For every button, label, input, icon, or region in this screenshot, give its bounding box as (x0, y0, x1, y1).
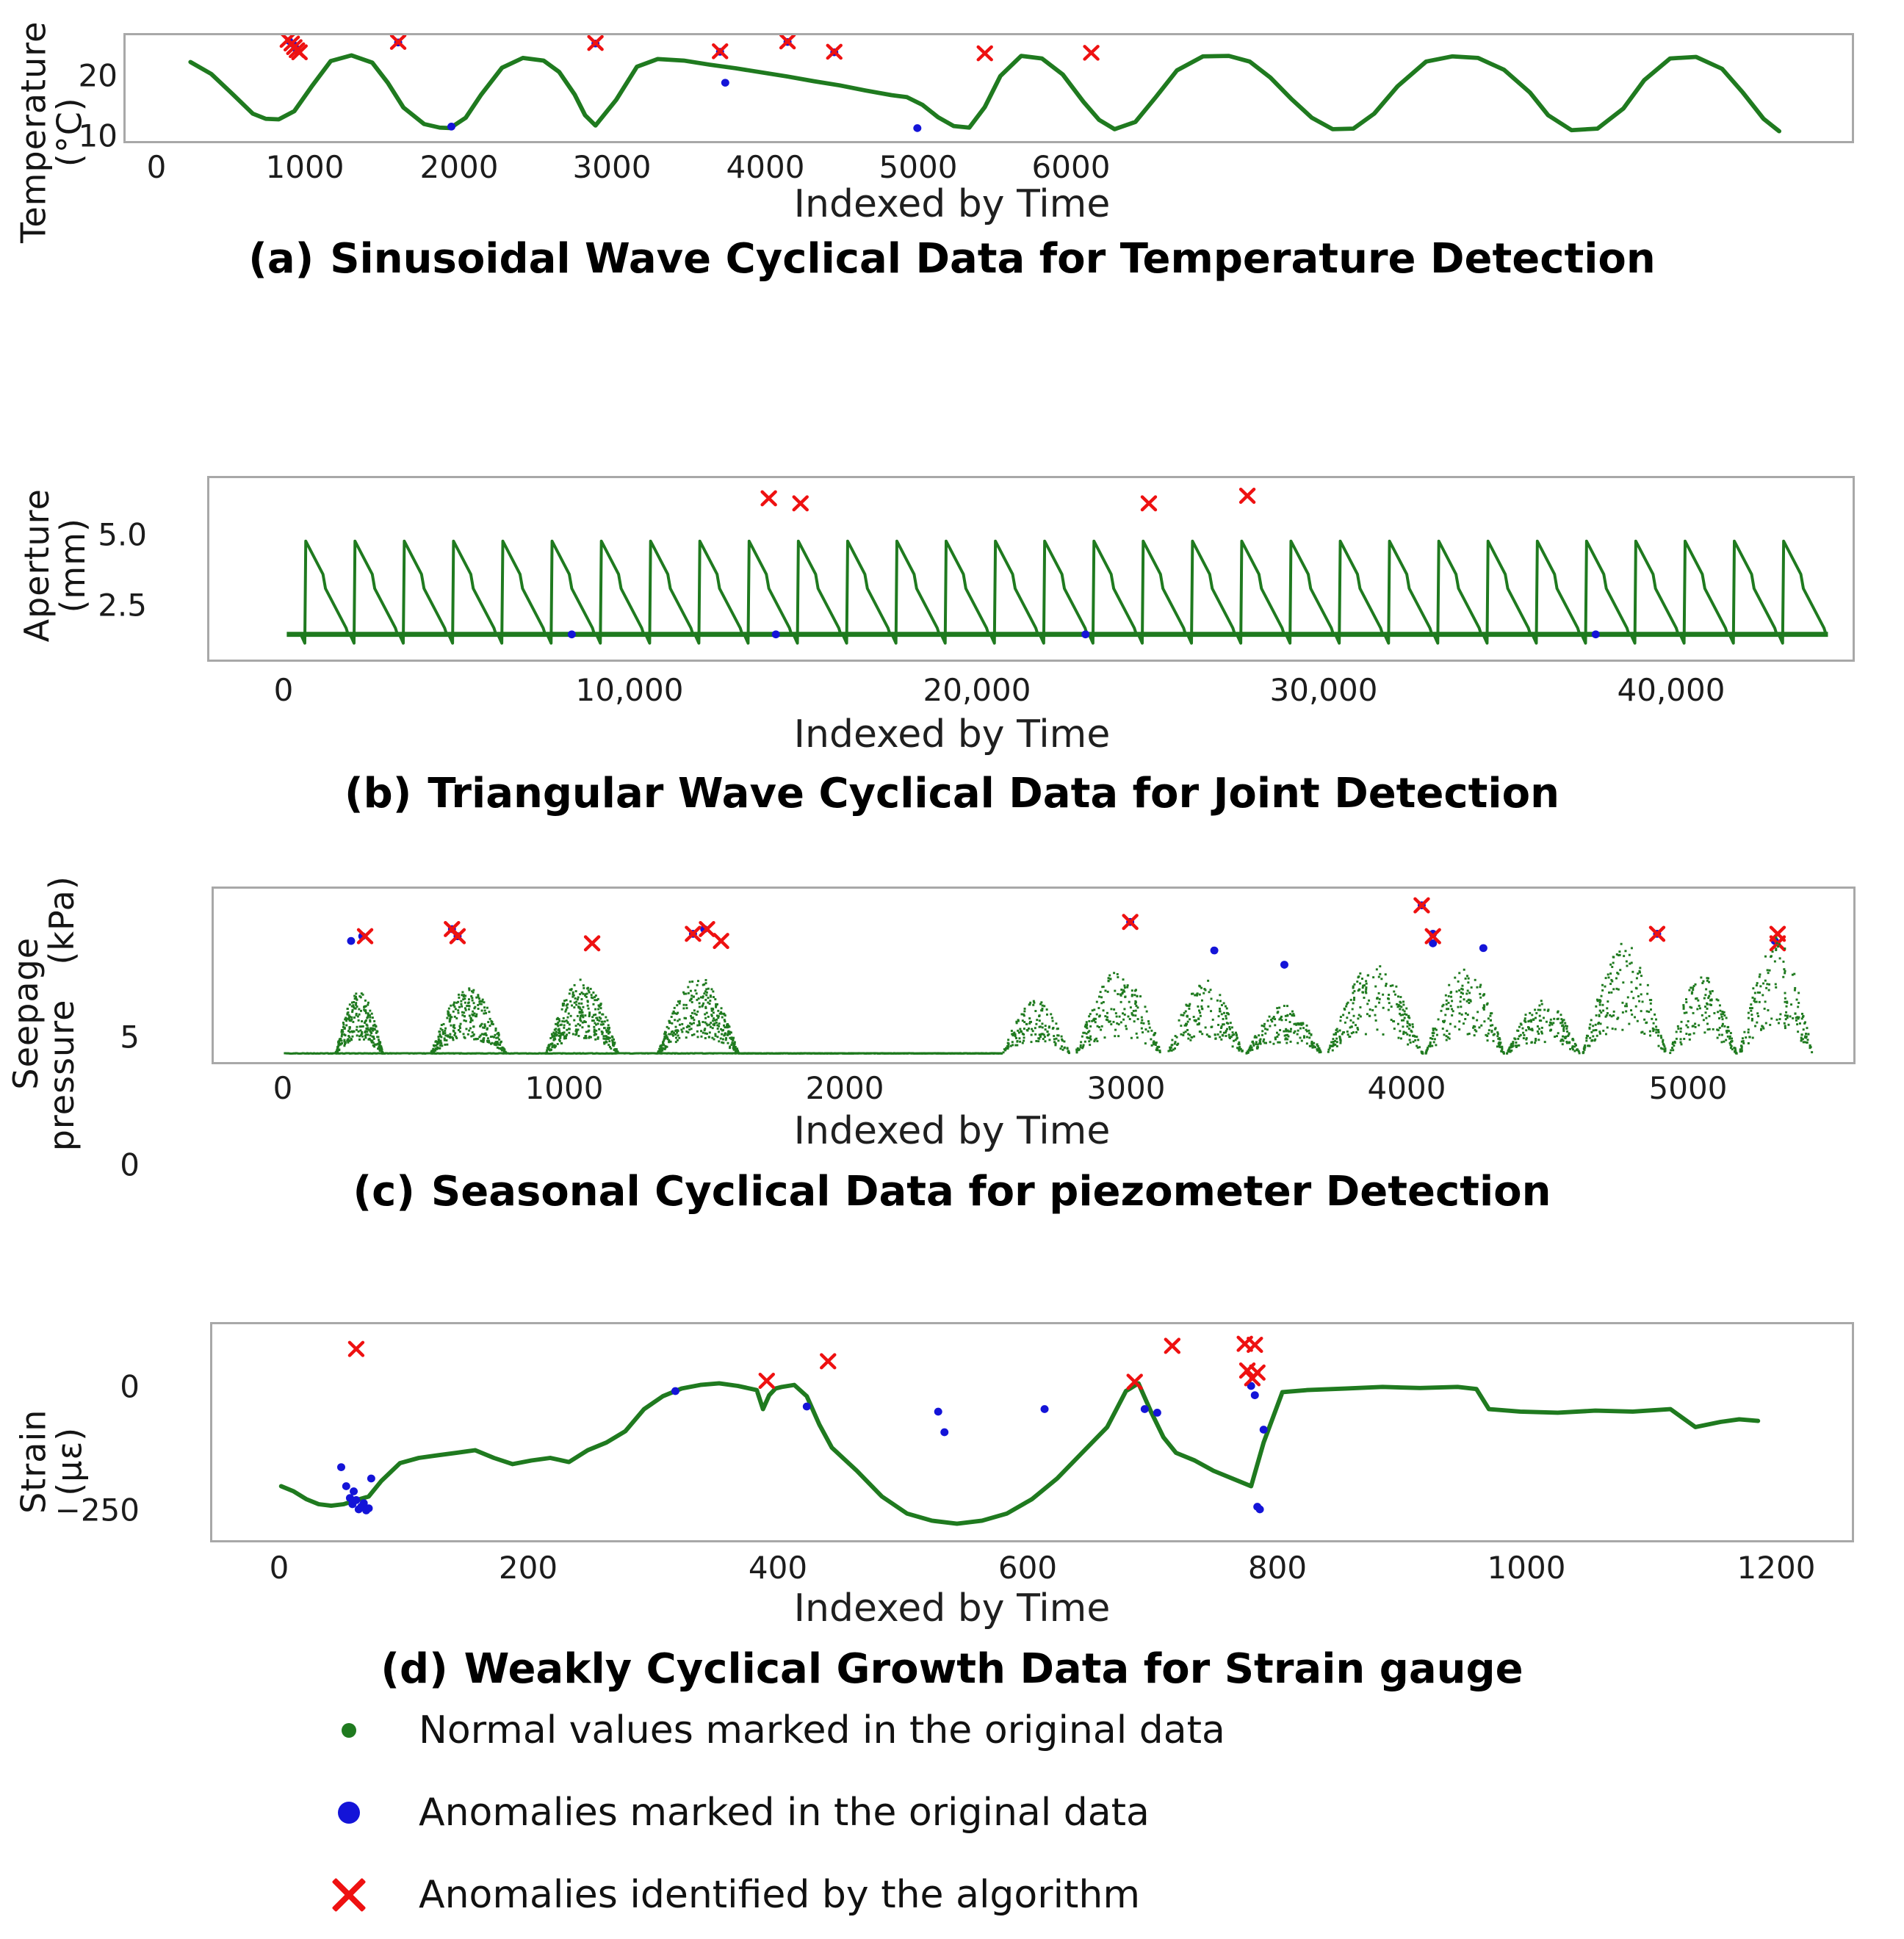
panel-a-xtick-5: 5000 (879, 149, 958, 185)
panel-b-tag: (b) (345, 770, 411, 817)
panel-c-caption-text: Seasonal Cyclical Data for piezometer De… (431, 1168, 1551, 1216)
panel-c-caption: (c)Seasonal Cyclical Data for piezometer… (0, 1168, 1904, 1216)
panel-d-ytick-1: −250 (44, 1492, 140, 1528)
panel-c-xtick-0: 0 (273, 1070, 293, 1106)
figure-root: Temperature (°C) 20 10 0 1000 2000 3000 … (0, 0, 1904, 1939)
panel-b-xtick-2: 20,000 (923, 672, 1031, 708)
panel-a-plot-area (123, 33, 1854, 143)
panel-b-xtick-3: 30,000 (1270, 672, 1378, 708)
panel-b-xtick-4: 40,000 (1618, 672, 1725, 708)
panel-a-xtick-0: 0 (147, 149, 167, 185)
green-dot-icon (323, 1705, 375, 1756)
panel-c-series-svg (214, 889, 1853, 1062)
panel-c-xtick-3: 3000 (1087, 1070, 1166, 1106)
panel-d-caption-text: Weakly Cyclical Growth Data for Strain g… (464, 1645, 1523, 1693)
panel-b-ylabel-line1: Aperture (17, 488, 57, 642)
legend-label-normal: Normal values marked in the original dat… (419, 1708, 1225, 1752)
panel-b-caption: (b)Triangular Wave Cyclical Data for Joi… (0, 770, 1904, 817)
panel-d-xtick-2: 400 (749, 1550, 807, 1586)
panel-c-xticklabels: 0 1000 2000 3000 4000 5000 (0, 1066, 1904, 1103)
panel-a-tag: (a) (248, 235, 314, 283)
panel-b-xtick-1: 10,000 (576, 672, 684, 708)
panel-b-ylabel: Aperture (mm) (0, 455, 140, 676)
panel-a-xtick-6: 6000 (1032, 149, 1111, 185)
panel-b-xticklabels: 0 10,000 20,000 30,000 40,000 (0, 668, 1904, 705)
panel-d-caption: (d)Weakly Cyclical Growth Data for Strai… (0, 1645, 1904, 1693)
panel-c-xtick-2: 2000 (806, 1070, 884, 1106)
panel-d-xtick-5: 1000 (1487, 1550, 1566, 1586)
panel-a-xtick-4: 4000 (726, 149, 805, 185)
panel-d-ylabel-line2: (με) (49, 1427, 89, 1496)
panel-d-series-svg (212, 1324, 1852, 1540)
panel-d-xticklabels: 0 200 400 600 800 1000 1200 (0, 1546, 1904, 1583)
panel-a-ytick-0: 20 (66, 58, 118, 94)
panel-b-xtick-0: 0 (274, 672, 294, 708)
panel-b-plot-area (207, 476, 1855, 662)
panel-a-xticklabels: 0 1000 2000 3000 4000 5000 6000 (0, 145, 1904, 182)
panel-d-xtick-6: 1200 (1737, 1550, 1816, 1586)
panel-d-xtick-1: 200 (499, 1550, 558, 1586)
panel-d-xlabel: Indexed by Time (0, 1586, 1904, 1631)
panel-d-ytick-0: 0 (95, 1369, 140, 1405)
panel-b-ytick-0: 5.0 (81, 517, 147, 553)
panel-c-xlabel: Indexed by Time (0, 1109, 1904, 1153)
legend-label-anomaly-pred: Anomalies identified by the algorithm (419, 1873, 1140, 1917)
panel-c-xtick-1: 1000 (525, 1070, 604, 1106)
panel-c-xtick-5: 5000 (1649, 1070, 1728, 1106)
panel-c-ytick-0: 5 (95, 1019, 140, 1055)
legend-item-normal: Normal values marked in the original dat… (0, 1689, 1904, 1772)
panel-a-caption-text: Sinusoidal Wave Cyclical Data for Temper… (330, 235, 1656, 283)
panel-c-tag: (c) (353, 1168, 414, 1216)
panel-d-plot-area (210, 1322, 1854, 1542)
panel-b-xlabel: Indexed by Time (0, 712, 1904, 757)
panel-a-xlabel: Indexed by Time (0, 182, 1904, 226)
legend-item-anomaly-pred: Anomalies identified by the algorithm (0, 1854, 1904, 1936)
panel-a-xtick-1: 1000 (266, 149, 345, 185)
legend: Normal values marked in the original dat… (0, 1689, 1904, 1936)
panel-a-xtick-2: 2000 (420, 149, 499, 185)
panel-a-caption: (a)Sinusoidal Wave Cyclical Data for Tem… (0, 235, 1904, 283)
panel-b-series-svg (209, 478, 1853, 660)
legend-item-anomaly-true: Anomalies marked in the original data (0, 1772, 1904, 1854)
legend-label-anomaly-true: Anomalies marked in the original data (419, 1791, 1150, 1835)
panel-d-xtick-4: 800 (1248, 1550, 1307, 1586)
panel-a-xtick-3: 3000 (573, 149, 652, 185)
panel-a-series-svg (126, 35, 1852, 141)
panel-b-caption-text: Triangular Wave Cyclical Data for Joint … (428, 770, 1559, 817)
panel-d-tag: (d) (381, 1645, 447, 1693)
red-x-icon (323, 1869, 375, 1921)
panel-d-xtick-3: 600 (998, 1550, 1057, 1586)
panel-c-xtick-4: 4000 (1368, 1070, 1446, 1106)
panel-d-xtick-0: 0 (270, 1550, 289, 1586)
panel-b-ytick-1: 2.5 (81, 588, 147, 624)
panel-c-plot-area (212, 887, 1856, 1064)
blue-dot-icon (323, 1787, 375, 1838)
